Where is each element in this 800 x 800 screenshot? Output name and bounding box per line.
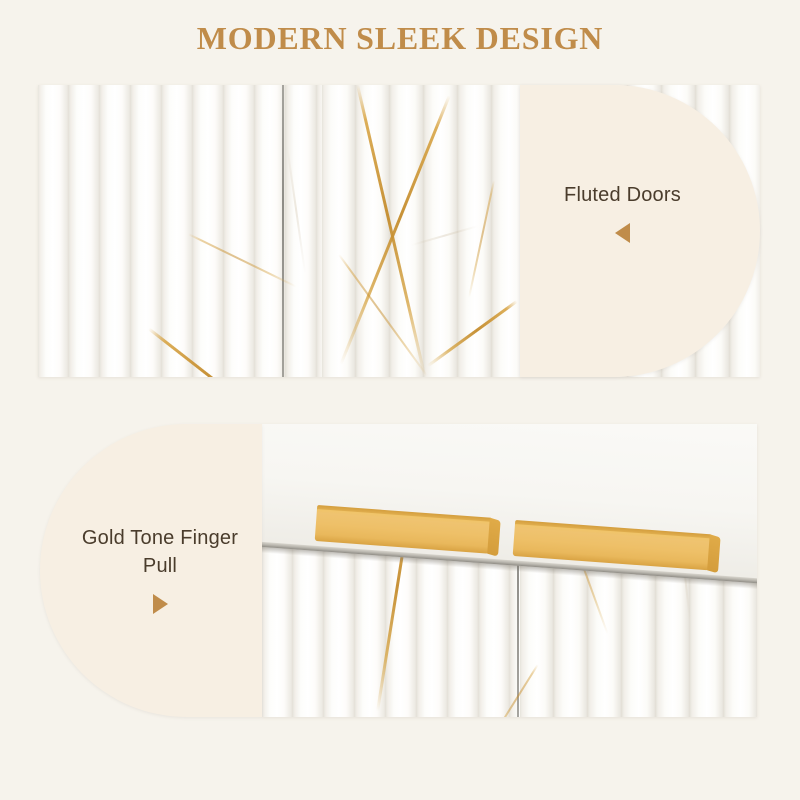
triangle-left-icon xyxy=(615,223,630,243)
triangle-right-icon xyxy=(153,594,168,614)
callout-gold-tone-finger-pull: Gold Tone Finger Pull xyxy=(40,424,262,717)
callout-label-finger-pull-line2: Pull xyxy=(58,552,262,580)
callout-label-finger-pull-line1: Gold Tone Finger xyxy=(58,524,262,552)
door-seam xyxy=(282,85,284,377)
fluted-texture-left xyxy=(38,85,322,377)
callout-label-fluted-doors: Fluted Doors xyxy=(520,181,725,209)
finger-pull-photo xyxy=(262,424,757,717)
page-title: MODERN SLEEK DESIGN xyxy=(0,18,800,58)
